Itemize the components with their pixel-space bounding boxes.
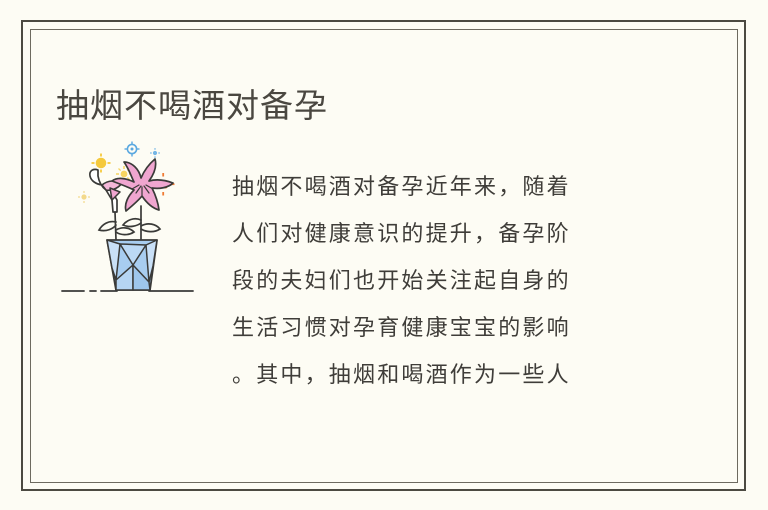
body-line: 抽烟不喝酒对备孕近年来，随着 (232, 163, 662, 210)
article-page: 抽烟不喝酒对备孕 (0, 0, 768, 510)
sparkle-yellow-small (78, 191, 90, 203)
sparkle-blue-small (150, 148, 160, 158)
flower-leaves (99, 219, 160, 235)
flower-lily-right (112, 159, 173, 211)
flower-vase-illustration (60, 140, 210, 310)
page-title: 抽烟不喝酒对备孕 (56, 84, 328, 128)
body-line: 。其中，抽烟和喝酒作为一些人 (232, 351, 662, 398)
sparkle-blue-large (125, 142, 140, 157)
article-body: 抽烟不喝酒对备孕近年来，随着 人们对健康意识的提升，备孕阶 段的夫妇们也开始关注… (232, 163, 662, 398)
body-line: 生活习惯对孕育健康宝宝的影响 (232, 304, 662, 351)
body-line: 段的夫妇们也开始关注起自身的 (232, 257, 662, 304)
flower-bud-left (90, 169, 122, 212)
body-line: 人们对健康意识的提升，备孕阶 (232, 210, 662, 257)
glass-vase (107, 240, 157, 290)
